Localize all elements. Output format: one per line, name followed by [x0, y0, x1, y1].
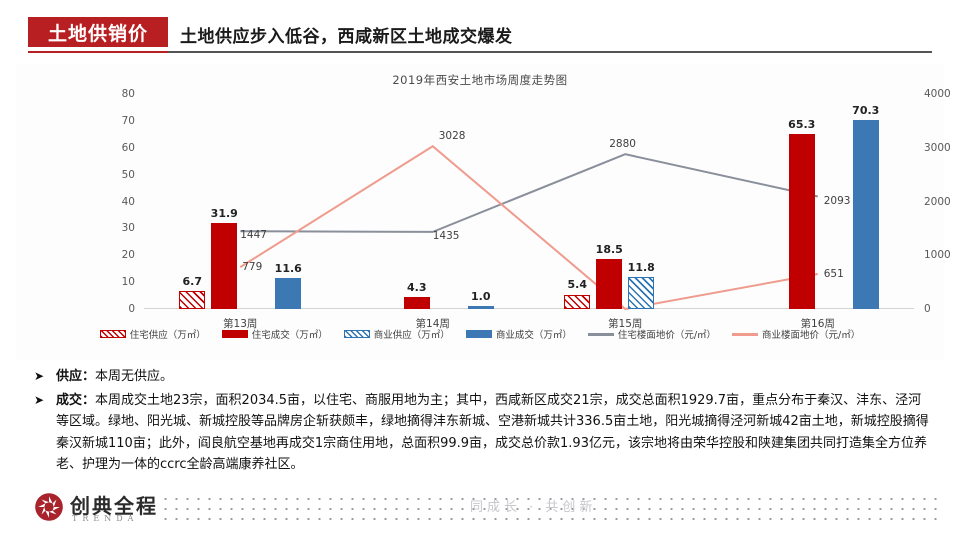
bar-3-series-2 [596, 259, 622, 309]
page-header: 土地供销价 土地供应步入低谷，西咸新区土地成交爆发 [0, 0, 960, 62]
paragraph-lead-label: 供应： [56, 369, 95, 384]
legend-swatch [344, 330, 370, 338]
footer-watermark: 同成长 · 共创新 [470, 496, 596, 515]
y-axis-tick-left: 40 [122, 196, 135, 208]
legend-label: 商业供应（万㎡） [374, 327, 450, 341]
legend-item-4[interactable]: 商业成交（万㎡） [466, 327, 572, 341]
header-rule [168, 51, 932, 53]
analysis-paragraph-1: ➤供应：本周无供应。 [30, 366, 934, 388]
legend-label: 住宅供应（万㎡） [130, 327, 206, 341]
legend-swatch [222, 330, 248, 338]
legend-label: 商业成交（万㎡） [496, 327, 572, 341]
chart-plot-area: 0102030405060708001000200030004000第13周第1… [144, 94, 914, 309]
legend-item-6[interactable]: 商业楼面地价（元/㎡） [732, 327, 860, 341]
legend-swatch [588, 333, 614, 336]
paragraph-body-text: 本周无供应。 [95, 369, 173, 384]
bar-value-label: 31.9 [211, 207, 238, 220]
bar-value-label: 1.0 [471, 290, 491, 303]
line-series-1 [240, 154, 818, 232]
analysis-text-block: ➤供应：本周无供应。➤成交：本周成交土地23宗，面积2034.5亩，以住宅、商服… [30, 366, 934, 478]
chart-container: 2019年西安土地市场周度走势图 01020304050607080010002… [16, 64, 944, 360]
bar-value-label: 11.6 [275, 262, 302, 275]
legend-swatch [732, 333, 758, 336]
bullet-arrow-icon: ➤ [34, 366, 44, 388]
chart-legend: 住宅供应（万㎡）住宅成交（万㎡）商业供应（万㎡）商业成交（万㎡）住宅楼面地价（元… [16, 327, 944, 341]
legend-swatch [466, 330, 492, 338]
line-point-label: 2880 [609, 138, 636, 150]
chart-title: 2019年西安土地市场周度走势图 [16, 72, 944, 88]
y-axis-tick-right: 3000 [924, 142, 951, 154]
line-point-label: 2093 [824, 195, 851, 207]
paragraph-body-text: 本周成交土地23宗，面积2034.5亩，以住宅、商服用地为主；其中，西咸新区成交… [56, 393, 929, 473]
y-axis-tick-left: 30 [122, 222, 135, 234]
y-axis-tick-left: 70 [122, 115, 135, 127]
legend-item-3[interactable]: 商业供应（万㎡） [344, 327, 450, 341]
bar-2-series-2 [404, 297, 430, 309]
y-axis-tick-left: 20 [122, 249, 135, 261]
bar-1-series-1 [179, 291, 205, 309]
legend-label: 商业楼面地价（元/㎡） [762, 327, 860, 341]
section-tag-badge: 土地供销价 [28, 17, 168, 47]
legend-swatch [100, 330, 126, 338]
y-axis-tick-right: 1000 [924, 249, 951, 261]
bar-1-series-2 [211, 223, 237, 309]
line-point-label: 779 [242, 261, 262, 273]
legend-label: 住宅楼面地价（元/㎡） [618, 327, 716, 341]
analysis-paragraph-2: ➤成交：本周成交土地23宗，面积2034.5亩，以住宅、商服用地为主；其中，西咸… [30, 390, 934, 476]
y-axis-tick-left: 60 [122, 142, 135, 154]
line-point-label: 1447 [240, 229, 267, 241]
bar-value-label: 70.3 [852, 104, 879, 117]
line-point-label: 651 [824, 268, 844, 280]
y-axis-tick-right: 0 [924, 303, 931, 315]
y-axis-tick-right: 2000 [924, 196, 951, 208]
legend-item-2[interactable]: 住宅成交（万㎡） [222, 327, 328, 341]
trenda-logo-icon [34, 492, 64, 522]
bar-3-series-3 [628, 277, 654, 309]
legend-label: 住宅成交（万㎡） [252, 327, 328, 341]
page-title: 土地供应步入低谷，西咸新区土地成交爆发 [180, 22, 513, 47]
page-footer: 创典全程 TRENDA 同成长 · 共创新 [0, 486, 960, 540]
y-axis-tick-left: 0 [128, 303, 135, 315]
y-axis-tick-right: 4000 [924, 88, 951, 100]
legend-item-5[interactable]: 住宅楼面地价（元/㎡） [588, 327, 716, 341]
line-series-2 [240, 146, 818, 309]
bar-value-label: 11.8 [628, 261, 655, 274]
bar-4-series-4 [853, 120, 879, 309]
y-axis-tick-left: 10 [122, 276, 135, 288]
line-point-label: 3028 [439, 130, 466, 142]
bar-4-series-2 [789, 134, 815, 309]
bar-value-label: 65.3 [788, 118, 815, 131]
bar-value-label: 6.7 [183, 275, 203, 288]
bar-value-label: 4.3 [407, 281, 427, 294]
line-point-label: 1435 [433, 230, 460, 242]
bar-3-series-1 [564, 295, 590, 310]
paragraph-lead-label: 成交： [56, 393, 95, 408]
bar-value-label: 5.4 [568, 278, 588, 291]
header-rule-accent [28, 51, 168, 53]
legend-item-1[interactable]: 住宅供应（万㎡） [100, 327, 206, 341]
bullet-arrow-icon: ➤ [34, 390, 44, 412]
logo-text-en: TRENDA [72, 514, 138, 523]
y-axis-tick-left: 50 [122, 169, 135, 181]
bar-2-series-4 [468, 306, 494, 309]
y-axis-tick-left: 80 [122, 88, 135, 100]
bar-1-series-4 [275, 278, 301, 309]
bar-value-label: 18.5 [596, 243, 623, 256]
